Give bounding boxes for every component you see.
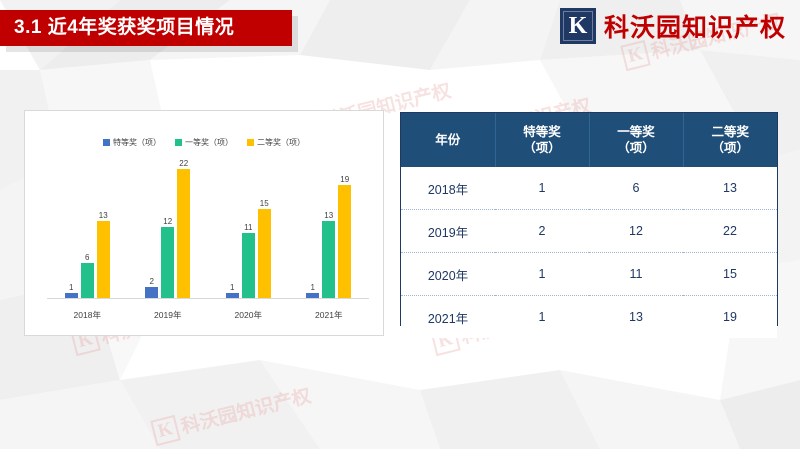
x-axis-line xyxy=(47,298,369,299)
bar-holder: 1 xyxy=(306,159,319,299)
table-cell-second: 13 xyxy=(683,167,777,210)
legend-swatch-icon xyxy=(103,139,110,146)
table-cell-first: 12 xyxy=(589,210,683,253)
table-header-cell: 年份 xyxy=(401,113,495,167)
bar-holder: 13 xyxy=(97,159,110,299)
header-line1: 二等奖 xyxy=(685,124,777,140)
bar-holder: 1 xyxy=(226,159,239,299)
table-cell-second: 19 xyxy=(683,296,777,339)
bar-value-label: 1 xyxy=(311,283,315,292)
table-cell-first: 11 xyxy=(589,253,683,296)
bar xyxy=(81,263,94,299)
table-header-cell: 一等奖 （项） xyxy=(589,113,683,167)
header-line1: 一等奖 xyxy=(591,124,682,140)
legend-label: 一等奖（项） xyxy=(185,137,233,148)
table-cell-special: 1 xyxy=(495,296,589,339)
legend-item: 二等奖（项） xyxy=(247,137,305,148)
bar-value-label: 13 xyxy=(99,211,108,220)
table-cell-special: 2 xyxy=(495,210,589,253)
bar xyxy=(242,233,255,299)
table-header-row: 年份 特等奖 （项） 一等奖 （项） 二等奖 （项） xyxy=(401,113,777,167)
legend-label: 特等奖（项） xyxy=(113,137,161,148)
table-header-cell: 二等奖 （项） xyxy=(683,113,777,167)
legend-swatch-icon xyxy=(175,139,182,146)
page-title: 3.1 近4年奖获奖项目情况 xyxy=(14,10,294,46)
award-data-table: 年份 特等奖 （项） 一等奖 （项） 二等奖 （项） 2018年 xyxy=(400,112,778,326)
bar-value-label: 19 xyxy=(340,175,349,184)
table-cell-first: 13 xyxy=(589,296,683,339)
bar-value-label: 11 xyxy=(244,223,252,232)
bar-holder: 1 xyxy=(65,159,78,299)
x-axis-tick-label: 2019年 xyxy=(129,309,207,321)
table-row: 2018年 1 6 13 xyxy=(401,167,777,210)
bar xyxy=(161,227,174,299)
table-row: 2021年 1 13 19 xyxy=(401,296,777,339)
bar-holder: 19 xyxy=(338,159,351,299)
bar-value-label: 6 xyxy=(85,253,89,262)
table-cell-second: 15 xyxy=(683,253,777,296)
table-cell-second: 22 xyxy=(683,210,777,253)
bar-chart-panel: 特等奖（项） 一等奖（项） 二等奖（项） 1 6 13 xyxy=(24,110,384,336)
bar xyxy=(177,169,190,299)
x-axis-tick-label: 2020年 xyxy=(209,309,287,321)
bar-value-label: 22 xyxy=(179,159,188,168)
bar xyxy=(97,221,110,299)
legend-label: 二等奖（项） xyxy=(257,137,305,148)
header-line1: 年份 xyxy=(402,132,494,148)
bar-value-label: 1 xyxy=(230,283,234,292)
table-row: 2019年 2 12 22 xyxy=(401,210,777,253)
table-header-cell: 特等奖 （项） xyxy=(495,113,589,167)
x-axis-labels: 2018年 2019年 2020年 2021年 xyxy=(47,309,369,321)
bar-group: 1 11 15 xyxy=(209,159,287,299)
x-axis-tick-label: 2018年 xyxy=(48,309,126,321)
table-cell-year: 2019年 xyxy=(401,210,495,253)
bar-holder: 2 xyxy=(145,159,158,299)
bar-holder: 15 xyxy=(258,159,271,299)
legend-item: 一等奖（项） xyxy=(175,137,233,148)
header-line1: 特等奖 xyxy=(497,124,588,140)
brand-logo: K 科沃园知识产权 xyxy=(560,8,786,44)
bar-value-label: 15 xyxy=(260,199,269,208)
chart-legend: 特等奖（项） 一等奖（项） 二等奖（项） xyxy=(25,137,383,148)
table-cell-first: 6 xyxy=(589,167,683,210)
bar-group: 1 6 13 xyxy=(48,159,126,299)
legend-swatch-icon xyxy=(247,139,254,146)
table-cell-special: 1 xyxy=(495,167,589,210)
table-row: 2020年 1 11 15 xyxy=(401,253,777,296)
bar-holder: 22 xyxy=(177,159,190,299)
table-cell-year: 2018年 xyxy=(401,167,495,210)
bar xyxy=(322,221,335,299)
header-line2: （项） xyxy=(591,140,682,156)
logo-text: 科沃园知识产权 xyxy=(604,8,786,44)
chart-plot-area: 1 6 13 2 12 22 xyxy=(47,159,369,299)
bar-group: 2 12 22 xyxy=(129,159,207,299)
table-cell-special: 1 xyxy=(495,253,589,296)
bar-value-label: 2 xyxy=(150,277,154,286)
bar xyxy=(258,209,271,299)
bar-holder: 12 xyxy=(161,159,174,299)
bar-holder: 13 xyxy=(322,159,335,299)
header-line2: （项） xyxy=(497,140,588,156)
bar-value-label: 13 xyxy=(324,211,333,220)
logo-mark-icon: K xyxy=(560,8,596,44)
legend-item: 特等奖（项） xyxy=(103,137,161,148)
bar-value-label: 12 xyxy=(163,217,172,226)
bar-holder: 6 xyxy=(81,159,94,299)
bar-group: 1 13 19 xyxy=(290,159,368,299)
bar-value-label: 1 xyxy=(69,283,73,292)
bar-holder: 11 xyxy=(242,159,255,299)
x-axis-tick-label: 2021年 xyxy=(290,309,368,321)
table-cell-year: 2020年 xyxy=(401,253,495,296)
header-line2: （项） xyxy=(685,140,777,156)
bar xyxy=(338,185,351,299)
table-cell-year: 2021年 xyxy=(401,296,495,339)
